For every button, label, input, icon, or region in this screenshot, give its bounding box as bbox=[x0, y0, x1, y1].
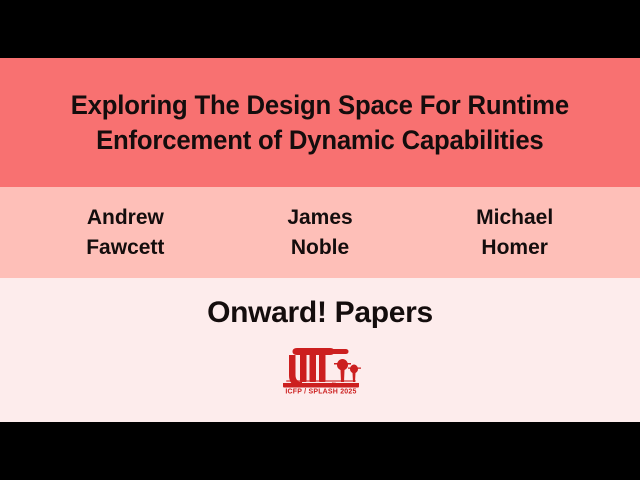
author-1-first-name: Andrew bbox=[28, 203, 223, 233]
logo-conference-label: ICFP / SPLASH 2025 bbox=[285, 389, 356, 396]
author-2-last-name: Noble bbox=[223, 233, 418, 263]
authors-band: Andrew Fawcett James Noble Michael Homer bbox=[0, 187, 640, 278]
letterbox-bar-top bbox=[0, 0, 640, 58]
author-2: James Noble bbox=[223, 203, 418, 263]
video-title-card: Exploring The Design Space For Runtime E… bbox=[0, 0, 640, 480]
conference-logo: Singapore ICFP / SPLASH 2025 bbox=[278, 344, 364, 396]
letterbox-bar-bottom bbox=[0, 422, 640, 480]
logo-city-label: Singapore bbox=[332, 382, 355, 388]
footer-band: Onward! Papers bbox=[0, 278, 640, 422]
page-title: Exploring The Design Space For Runtime E… bbox=[71, 88, 569, 158]
author-3: Michael Homer bbox=[417, 203, 612, 263]
author-3-first-name: Michael bbox=[417, 203, 612, 233]
singapore-skyline-icon: Singapore ICFP / SPLASH 2025 bbox=[278, 344, 364, 396]
title-band: Exploring The Design Space For Runtime E… bbox=[0, 58, 640, 187]
author-2-first-name: James bbox=[223, 203, 418, 233]
author-1: Andrew Fawcett bbox=[28, 203, 223, 263]
author-1-last-name: Fawcett bbox=[28, 233, 223, 263]
author-3-last-name: Homer bbox=[417, 233, 612, 263]
title-line-1: Exploring The Design Space For Runtime bbox=[71, 88, 569, 123]
session-track-label: Onward! Papers bbox=[0, 298, 640, 328]
title-line-2: Enforcement of Dynamic Capabilities bbox=[71, 123, 569, 158]
